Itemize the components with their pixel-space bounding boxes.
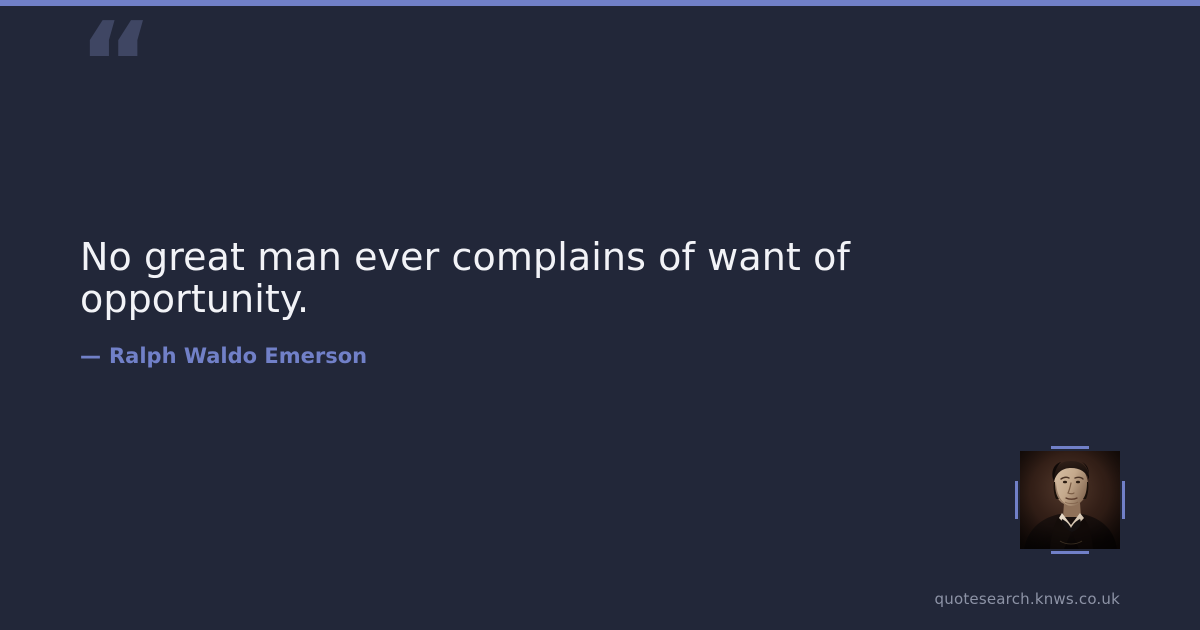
- author-portrait-frame: [1020, 451, 1120, 549]
- portrait-accent-tick-bottom: [1051, 551, 1089, 554]
- attribution: —Ralph Waldo Emerson: [80, 344, 367, 369]
- quote-text: No great man ever complains of want of o…: [80, 237, 900, 321]
- source-url: quotesearch.knws.co.uk: [935, 590, 1120, 608]
- portrait-accent-tick-right: [1122, 481, 1125, 519]
- portrait-accent-tick-top: [1051, 446, 1089, 449]
- quote-card: “ No great man ever complains of want of…: [0, 0, 1200, 630]
- em-dash: —: [80, 344, 101, 368]
- author-portrait-image: [1020, 451, 1120, 549]
- portrait-accent-tick-left: [1015, 481, 1018, 519]
- opening-quote-icon: “: [78, 8, 152, 123]
- author-name: Ralph Waldo Emerson: [109, 344, 367, 368]
- top-accent-bar: [0, 0, 1200, 6]
